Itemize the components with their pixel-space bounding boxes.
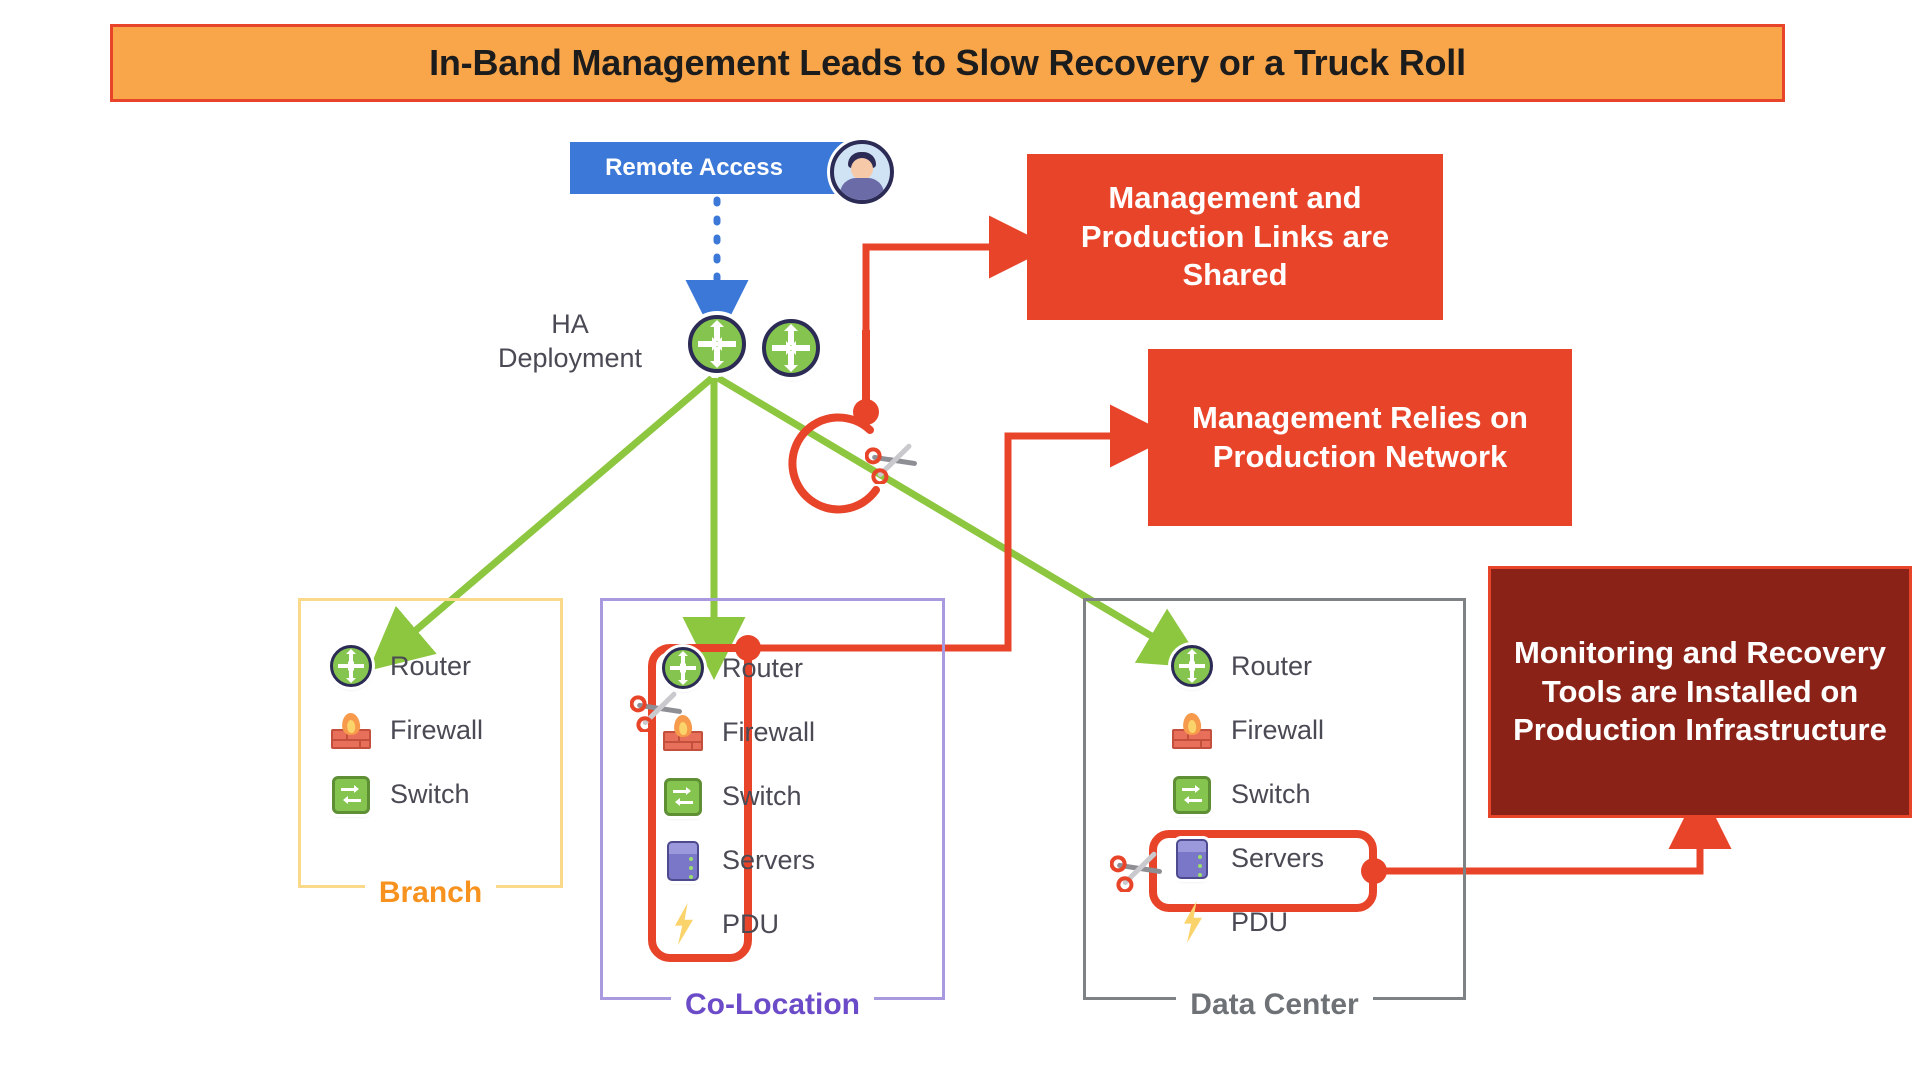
device-label: Switch	[390, 779, 470, 810]
device-row-switch[interactable]: Switch	[328, 762, 483, 826]
branch-device-list: Router Firewall Switch	[328, 634, 483, 826]
device-label: Firewall	[722, 717, 815, 748]
ha-deployment-label: HA Deployment	[470, 308, 670, 376]
pdu-icon	[660, 901, 706, 947]
device-label: Router	[722, 653, 803, 684]
device-label: Firewall	[390, 715, 483, 746]
switch-icon	[328, 771, 374, 817]
device-label: Servers	[1231, 843, 1324, 874]
scissors-icon	[865, 440, 921, 484]
callout-shared-links: Management and Production Links are Shar…	[1027, 154, 1443, 320]
site-group-datacenter-legend: Data Center	[1083, 988, 1466, 1022]
ha-router-node-secondary[interactable]	[762, 319, 820, 377]
ha-router-node-primary[interactable]	[688, 315, 746, 373]
scissors-icon	[630, 688, 686, 732]
firewall-icon	[1169, 707, 1215, 753]
pdu-icon	[1169, 899, 1215, 945]
device-row-router[interactable]: Router	[328, 634, 483, 698]
connector-layer	[0, 0, 1920, 1080]
switch-icon	[1169, 771, 1215, 817]
user-avatar-icon	[830, 140, 894, 204]
page-title-banner: In-Band Management Leads to Slow Recover…	[110, 24, 1785, 102]
callout-management-relies: Management Relies on Production Network	[1148, 349, 1572, 526]
site-group-branch: Branch Router Firewall Switch	[298, 598, 563, 888]
site-group-branch-legend: Branch	[298, 876, 563, 910]
device-label: Router	[390, 651, 471, 682]
device-label: Router	[1231, 651, 1312, 682]
site-group-colocation-legend: Co-Location	[600, 988, 945, 1022]
remote-access-node[interactable]: Remote Access	[570, 142, 866, 194]
device-row-servers[interactable]: Servers	[1169, 826, 1324, 890]
device-label: Switch	[722, 781, 802, 812]
callout-monitoring-tools-text: Monitoring and Recovery Tools are Instal…	[1509, 634, 1891, 750]
site-group-datacenter: Data Center Router Firewall Switch Serve…	[1083, 598, 1466, 1000]
device-row-switch[interactable]: Switch	[1169, 762, 1324, 826]
router-icon	[328, 643, 374, 689]
servers-icon	[660, 837, 706, 883]
switch-icon	[660, 773, 706, 819]
datacenter-device-list: Router Firewall Switch Servers PDU	[1169, 634, 1324, 954]
fault-leader-shared	[866, 247, 1024, 330]
device-label: Switch	[1231, 779, 1311, 810]
device-row-servers[interactable]: Servers	[660, 828, 815, 892]
callout-management-relies-text: Management Relies on Production Network	[1166, 399, 1554, 477]
remote-access-label: Remote Access	[605, 154, 831, 182]
servers-icon	[1169, 835, 1215, 881]
device-label: Servers	[722, 845, 815, 876]
diagram-canvas: In-Band Management Leads to Slow Recover…	[0, 0, 1920, 1080]
router-icon	[1169, 643, 1215, 689]
scissors-icon	[1110, 848, 1166, 892]
callout-monitoring-tools: Monitoring and Recovery Tools are Instal…	[1488, 566, 1912, 818]
page-title: In-Band Management Leads to Slow Recover…	[429, 42, 1466, 84]
device-row-pdu[interactable]: PDU	[1169, 890, 1324, 954]
device-label: Firewall	[1231, 715, 1324, 746]
device-label: PDU	[722, 909, 779, 940]
firewall-icon	[328, 707, 374, 753]
device-label: PDU	[1231, 907, 1288, 938]
site-group-colocation: Co-Location Router Firewall Switch Serve…	[600, 598, 945, 1000]
colocation-device-list: Router Firewall Switch Servers PDU	[660, 636, 815, 956]
device-row-firewall[interactable]: Firewall	[328, 698, 483, 762]
router-icon	[660, 645, 706, 691]
device-row-firewall[interactable]: Firewall	[1169, 698, 1324, 762]
device-row-pdu[interactable]: PDU	[660, 892, 815, 956]
device-row-router[interactable]: Router	[1169, 634, 1324, 698]
device-row-switch[interactable]: Switch	[660, 764, 815, 828]
callout-shared-links-text: Management and Production Links are Shar…	[1045, 179, 1425, 295]
